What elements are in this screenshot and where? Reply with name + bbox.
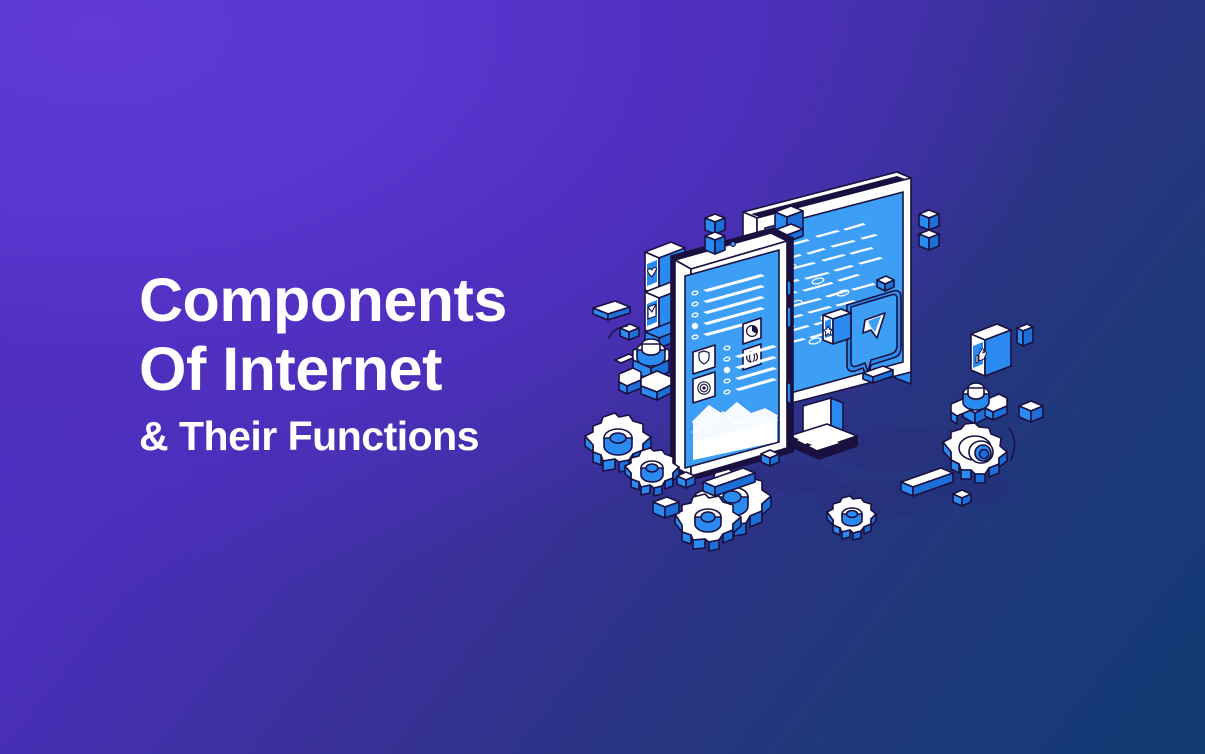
floating-bar-right-small (1017, 324, 1033, 346)
floating-cube-top-b (705, 232, 725, 254)
hero-banner: Components Of Internet & Their Functions (0, 0, 1205, 754)
gear-cluster-right (943, 383, 1015, 483)
star-card-icon (823, 309, 851, 344)
floating-cube-top-c (919, 210, 939, 230)
floating-cube-top-a (705, 214, 725, 234)
floating-cube-right (1019, 401, 1043, 422)
tablet-device (671, 228, 793, 480)
floating-cube-mid (677, 472, 695, 488)
gear-right-top (951, 383, 1007, 424)
thumbs-up-card-icon (971, 324, 1011, 376)
floating-cube-near-tablet (761, 450, 779, 466)
floating-cube-top-d (919, 230, 939, 250)
floating-cube-right-small (953, 490, 971, 506)
screen-cube-small (877, 276, 894, 291)
gear-pair-lower-left (585, 413, 679, 496)
floating-bar-left (593, 301, 630, 320)
floating-cube-bottom-left (653, 497, 679, 518)
isometric-illustration (575, 160, 1095, 560)
